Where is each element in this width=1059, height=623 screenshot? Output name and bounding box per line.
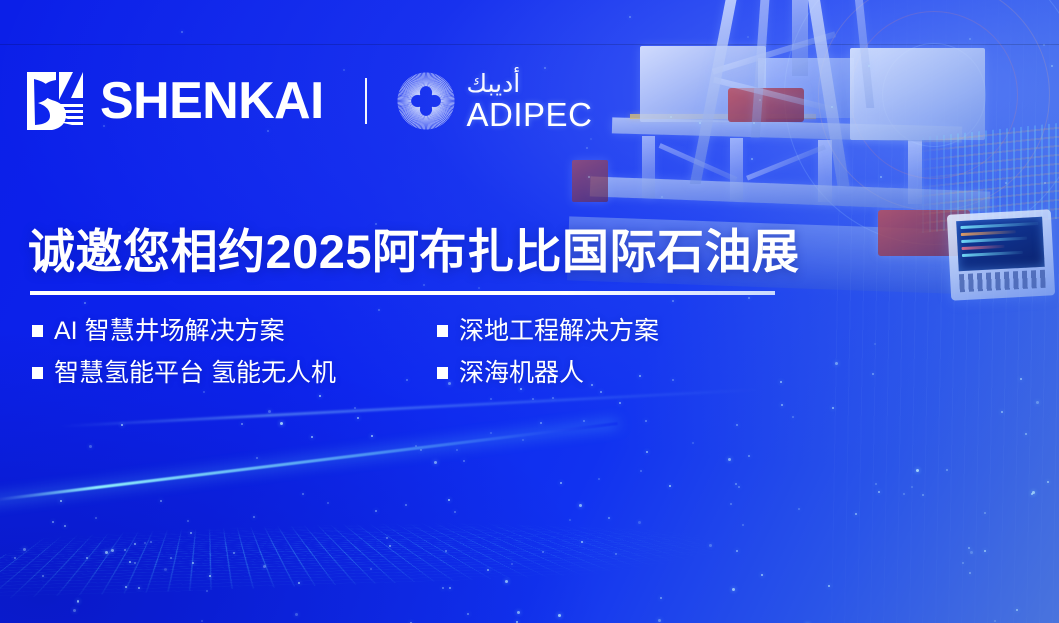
feature-row: 智慧氢能平台 氢能无人机 深海机器人 <box>32 356 732 390</box>
adipec-arabic-name: أديبك <box>467 72 521 97</box>
shenkai-wordmark: SHENKAI <box>100 75 324 127</box>
feature-column-right: 深地工程解决方案 <box>437 314 659 348</box>
feature-list: AI 智慧井场解决方案 深地工程解决方案 智慧氢能平台 氢能无人机 <box>32 314 732 398</box>
feature-item: 智慧氢能平台 氢能无人机 <box>32 356 437 390</box>
headline-divider <box>30 291 775 295</box>
banner-content: SHENKAI أديبك ADIPEC 诚邀您相约2025阿布扎比国际石油展 <box>0 0 1059 623</box>
feature-item: 深海机器人 <box>437 356 584 390</box>
bullet-square-icon <box>32 367 43 379</box>
headline-title: 诚邀您相约2025阿布扎比国际石油展 <box>28 226 800 278</box>
feature-item: 深地工程解决方案 <box>437 314 659 348</box>
feature-column-left: AI 智慧井场解决方案 <box>32 314 437 348</box>
adipec-text-block: أديبك ADIPEC <box>467 72 593 131</box>
feature-label: 智慧氢能平台 氢能无人机 <box>54 356 336 390</box>
feature-item: AI 智慧井场解决方案 <box>32 314 437 348</box>
promotional-banner: SHENKAI أديبك ADIPEC 诚邀您相约2025阿布扎比国际石油展 <box>0 0 1059 623</box>
feature-row: AI 智慧井场解决方案 深地工程解决方案 <box>32 314 732 348</box>
adipec-latin-name: ADIPEC <box>467 98 593 131</box>
logo-row: SHENKAI أديبك ADIPEC <box>26 66 592 136</box>
adipec-logo: أديبك ADIPEC <box>395 70 593 132</box>
logo-separator <box>365 78 367 124</box>
bullet-square-icon <box>32 325 43 337</box>
adipec-radial-burst-icon <box>395 70 457 132</box>
feature-column-left: 智慧氢能平台 氢能无人机 <box>32 356 437 390</box>
bullet-square-icon <box>437 325 448 337</box>
feature-column-right: 深海机器人 <box>437 356 584 390</box>
feature-label: AI 智慧井场解决方案 <box>54 314 285 348</box>
bullet-square-icon <box>437 367 448 379</box>
shenkai-logo-icon <box>26 71 84 131</box>
feature-label: 深地工程解决方案 <box>459 314 659 348</box>
feature-label: 深海机器人 <box>459 356 584 390</box>
